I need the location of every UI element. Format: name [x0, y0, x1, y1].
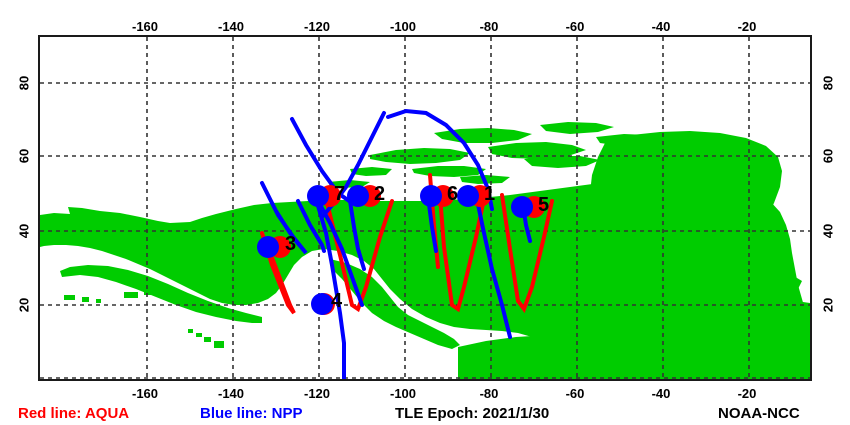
tle-epoch-label: TLE Epoch: 2021/1/30: [395, 405, 549, 422]
bottom-tick-label: -100: [390, 386, 416, 401]
marker-dot-blue-3[interactable]: [257, 236, 279, 258]
top-tick-label: -20: [738, 19, 757, 34]
marker-label-3: 3: [285, 234, 296, 254]
bottom-tick-label: -20: [738, 386, 757, 401]
marker-dot-blue-7[interactable]: [307, 185, 329, 207]
marker-dot-blue-5[interactable]: [511, 196, 533, 218]
bottom-tick-label: -140: [218, 386, 244, 401]
top-tick-label: -60: [566, 19, 585, 34]
bottom-tick-label: -120: [304, 386, 330, 401]
right-tick-label: 20: [821, 298, 836, 312]
marker-label-7: 7: [334, 184, 345, 204]
left-tick-label: 20: [17, 298, 32, 312]
bottom-tick-label: -80: [480, 386, 499, 401]
marker-dot-blue-2[interactable]: [347, 185, 369, 207]
right-tick-label: 40: [821, 224, 836, 238]
top-tick-label: -40: [652, 19, 671, 34]
map-canvas: [40, 37, 810, 379]
top-tick-label: -120: [304, 19, 330, 34]
marker-label-2: 2: [374, 184, 385, 204]
marker-layer: [40, 37, 810, 379]
marker-label-6: 6: [447, 184, 458, 204]
marker-dot-blue-6[interactable]: [420, 185, 442, 207]
right-tick-label: 60: [821, 149, 836, 163]
marker-label-1: 1: [484, 184, 495, 204]
satellite-ground-track-map: -160 -140 -120 -100 -80 -60 -40 -20 -160…: [0, 0, 850, 425]
map-plot-frame: [38, 35, 812, 381]
source-attribution-label: NOAA-NCC: [718, 405, 800, 422]
right-tick-label: 80: [821, 76, 836, 90]
bottom-tick-label: -60: [566, 386, 585, 401]
top-tick-label: -80: [480, 19, 499, 34]
marker-dot-blue-1[interactable]: [457, 185, 479, 207]
top-tick-label: -140: [218, 19, 244, 34]
marker-label-5: 5: [538, 195, 549, 215]
bottom-tick-label: -40: [652, 386, 671, 401]
legend-blue-line-npp: Blue line: NPP: [200, 405, 303, 422]
legend-red-line-aqua: Red line: AQUA: [18, 405, 129, 422]
left-tick-label: 80: [17, 76, 32, 90]
top-tick-label: -100: [390, 19, 416, 34]
marker-label-4: 4: [331, 291, 342, 311]
bottom-tick-label: -160: [132, 386, 158, 401]
top-tick-label: -160: [132, 19, 158, 34]
marker-dot-blue-4[interactable]: [311, 293, 333, 315]
left-tick-label: 60: [17, 149, 32, 163]
left-tick-label: 40: [17, 224, 32, 238]
